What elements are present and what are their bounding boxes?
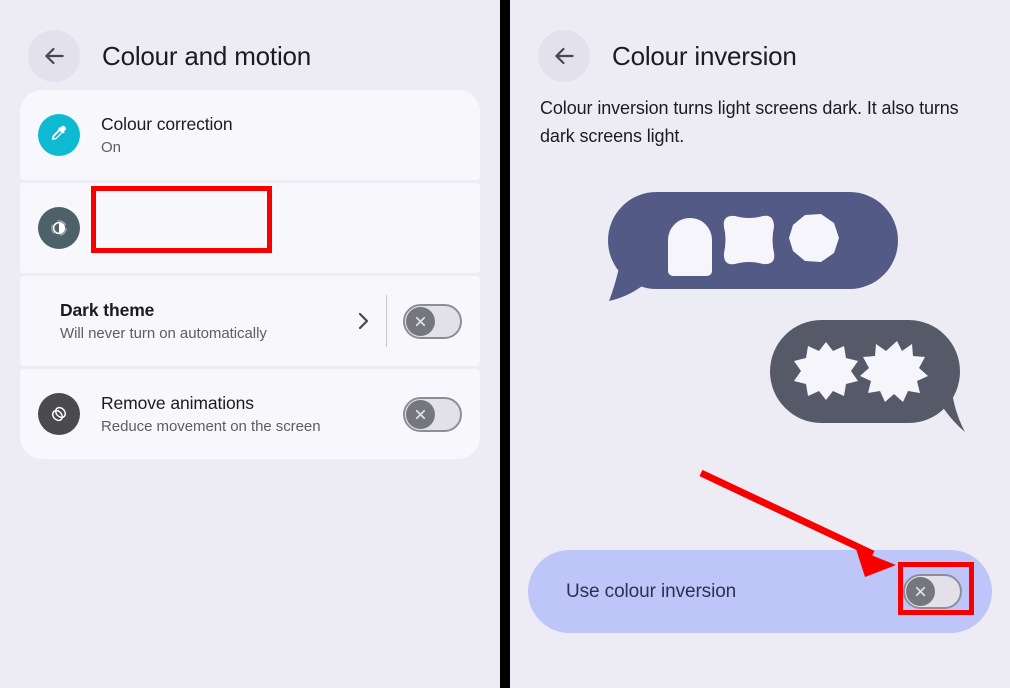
speech-bubble-dark: [770, 320, 972, 442]
colour-inversion-illustration: [540, 172, 980, 462]
chevron-right-icon[interactable]: [356, 308, 372, 334]
screenshot-root: Colour and motion Colour correction On: [0, 0, 1010, 688]
left-panel-header: Colour and motion: [0, 0, 500, 84]
arrow-left-icon: [551, 43, 577, 69]
row-title: Colour inversion: [101, 206, 462, 229]
back-button[interactable]: [538, 30, 590, 82]
left-panel-colour-and-motion: Colour and motion Colour correction On: [0, 0, 500, 688]
speech-bubble-light: [608, 192, 898, 302]
settings-row-dark-theme[interactable]: Dark theme Will never turn on automatica…: [20, 276, 480, 366]
settings-row-colour-correction[interactable]: Colour correction On: [20, 90, 480, 180]
dark-theme-toggle[interactable]: [403, 304, 462, 339]
use-colour-inversion-row[interactable]: Use colour inversion: [528, 550, 992, 633]
row-subtitle: Reduce movement on the screen: [101, 416, 403, 437]
row-text-group: Remove animations Reduce movement on the…: [101, 392, 403, 437]
toggle-knob: [906, 577, 935, 606]
row-subtitle: Will never turn on automatically: [60, 323, 350, 344]
row-title: Remove animations: [101, 392, 403, 415]
row-title: Colour correction: [101, 113, 462, 136]
remove-animations-toggle[interactable]: [403, 397, 462, 432]
settings-row-remove-animations[interactable]: Remove animations Reduce movement on the…: [20, 369, 480, 459]
settings-row-colour-inversion[interactable]: Colour inversion Off: [20, 183, 480, 273]
close-x-icon: [913, 584, 928, 599]
eyedropper-icon: [38, 114, 80, 156]
right-panel-colour-inversion: Colour inversion Colour inversion turns …: [510, 0, 1010, 688]
panel-divider: [500, 0, 510, 688]
toggle-knob: [406, 400, 435, 429]
use-colour-inversion-label: Use colour inversion: [566, 581, 903, 603]
use-colour-inversion-toggle[interactable]: [903, 574, 962, 609]
overlapping-rings-icon: [38, 393, 80, 435]
page-description: Colour inversion turns light screens dar…: [540, 94, 980, 150]
close-x-icon: [413, 407, 428, 422]
right-panel-header: Colour inversion: [510, 0, 1010, 84]
row-title: Dark theme: [60, 299, 350, 322]
page-title: Colour and motion: [102, 41, 311, 72]
page-title: Colour inversion: [612, 41, 797, 72]
arrow-left-icon: [41, 43, 67, 69]
row-divider: [386, 295, 387, 347]
row-subtitle: Off: [101, 230, 462, 251]
close-x-icon: [413, 314, 428, 329]
back-button[interactable]: [28, 30, 80, 82]
toggle-knob: [406, 307, 435, 336]
contrast-circle-icon: [38, 207, 80, 249]
row-subtitle: On: [101, 137, 462, 158]
row-text-group: Colour correction On: [101, 113, 462, 158]
settings-card-list: Colour correction On Colour inversion Of…: [20, 90, 480, 459]
row-text-group: Colour inversion Off: [101, 206, 462, 251]
row-text-group: Dark theme Will never turn on automatica…: [60, 299, 350, 344]
